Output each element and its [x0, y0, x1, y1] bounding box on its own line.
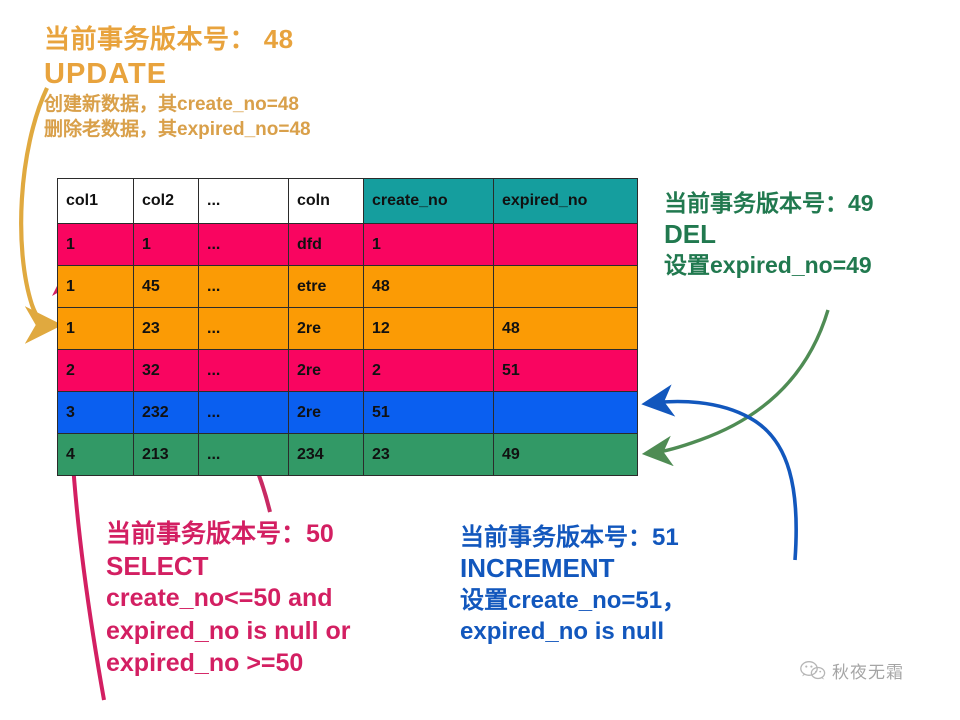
table-row: 3232...2re51: [58, 392, 638, 434]
table-cell: [494, 392, 638, 434]
table-cell: 2: [364, 350, 494, 392]
table-row: 232...2re251: [58, 350, 638, 392]
table-cell: 45: [134, 266, 199, 308]
wechat-icon: [800, 660, 826, 682]
update-detail-expire: 删除老数据，其expired_no=48: [44, 119, 311, 141]
increment-detail-null: expired_no is null: [460, 618, 686, 646]
select-predicate-gte: expired_no >=50: [106, 649, 351, 679]
table-cell: 48: [494, 308, 638, 350]
table-cell: ...: [199, 224, 289, 266]
column-header-coln: coln: [289, 179, 364, 224]
update-detail-create: 创建新数据，其create_no=48: [44, 94, 311, 116]
table-cell: ...: [199, 266, 289, 308]
table-cell: 1: [134, 224, 199, 266]
del-version-line: 当前事务版本号：49: [664, 190, 874, 217]
select-version-line: 当前事务版本号：50: [106, 520, 351, 550]
table-row: 145...etre48: [58, 266, 638, 308]
column-header-expired-no: expired_no: [494, 179, 638, 224]
table-row: 11...dfd1: [58, 224, 638, 266]
table-cell: ...: [199, 434, 289, 476]
table-cell: 1: [58, 308, 134, 350]
select-operation-label: SELECT: [106, 551, 351, 582]
table-cell: etre: [289, 266, 364, 308]
table-cell: 48: [364, 266, 494, 308]
table-cell: [494, 224, 638, 266]
table-cell: dfd: [289, 224, 364, 266]
watermark: 秋夜无霜: [800, 658, 904, 683]
table-body: 11...dfd1145...etre48123...2re1248232...…: [58, 224, 638, 476]
diagram-canvas: 当前事务版本号： 48 UPDATE 创建新数据，其create_no=48 删…: [0, 0, 960, 720]
table-cell: 51: [364, 392, 494, 434]
annotation-increment: 当前事务版本号：51 INCREMENT 设置create_no=51， exp…: [460, 524, 686, 647]
table-cell: 23: [134, 308, 199, 350]
table-cell: 1: [58, 266, 134, 308]
column-header-create-no: create_no: [364, 179, 494, 224]
table-cell: 2re: [289, 392, 364, 434]
table-cell: 12: [364, 308, 494, 350]
table-cell: 3: [58, 392, 134, 434]
table-cell: 232: [134, 392, 199, 434]
mvcc-row-version-table: col1 col2 ... coln create_no expired_no …: [57, 178, 638, 476]
update-version-line: 当前事务版本号： 48: [44, 24, 311, 55]
table-cell: 4: [58, 434, 134, 476]
table-cell: 51: [494, 350, 638, 392]
table-cell: ...: [199, 392, 289, 434]
table-cell: 2re: [289, 350, 364, 392]
annotation-update: 当前事务版本号： 48 UPDATE 创建新数据，其create_no=48 删…: [44, 24, 311, 142]
table-cell: 1: [364, 224, 494, 266]
update-operation-label: UPDATE: [44, 57, 311, 91]
table-cell: 1: [58, 224, 134, 266]
table-cell: 23: [364, 434, 494, 476]
select-predicate-create: create_no<=50 and: [106, 584, 351, 614]
table-cell: 2: [58, 350, 134, 392]
select-predicate-null: expired_no is null or: [106, 617, 351, 647]
table-cell: 2re: [289, 308, 364, 350]
column-header-col2: col2: [134, 179, 199, 224]
table-cell: 213: [134, 434, 199, 476]
table-cell: 234: [289, 434, 364, 476]
del-arrow: [652, 310, 828, 453]
watermark-text: 秋夜无霜: [832, 658, 904, 683]
table-header-row: col1 col2 ... coln create_no expired_no: [58, 179, 638, 224]
annotation-del: 当前事务版本号：49 DEL 设置expired_no=49: [664, 190, 874, 279]
column-header-ellipsis: ...: [199, 179, 289, 224]
table-cell: ...: [199, 350, 289, 392]
table-cell: 32: [134, 350, 199, 392]
increment-version-line: 当前事务版本号：51: [460, 524, 686, 552]
column-header-col1: col1: [58, 179, 134, 224]
table-row: 123...2re1248: [58, 308, 638, 350]
increment-operation-label: INCREMENT: [460, 553, 686, 584]
table-cell: ...: [199, 308, 289, 350]
table-row: 4213...2342349: [58, 434, 638, 476]
del-operation-label: DEL: [664, 219, 874, 250]
annotation-select: 当前事务版本号：50 SELECT create_no<=50 and expi…: [106, 520, 351, 679]
increment-detail-create: 设置create_no=51，: [460, 587, 686, 615]
table-cell: 49: [494, 434, 638, 476]
table-cell: [494, 266, 638, 308]
del-detail-expire: 设置expired_no=49: [664, 252, 874, 279]
